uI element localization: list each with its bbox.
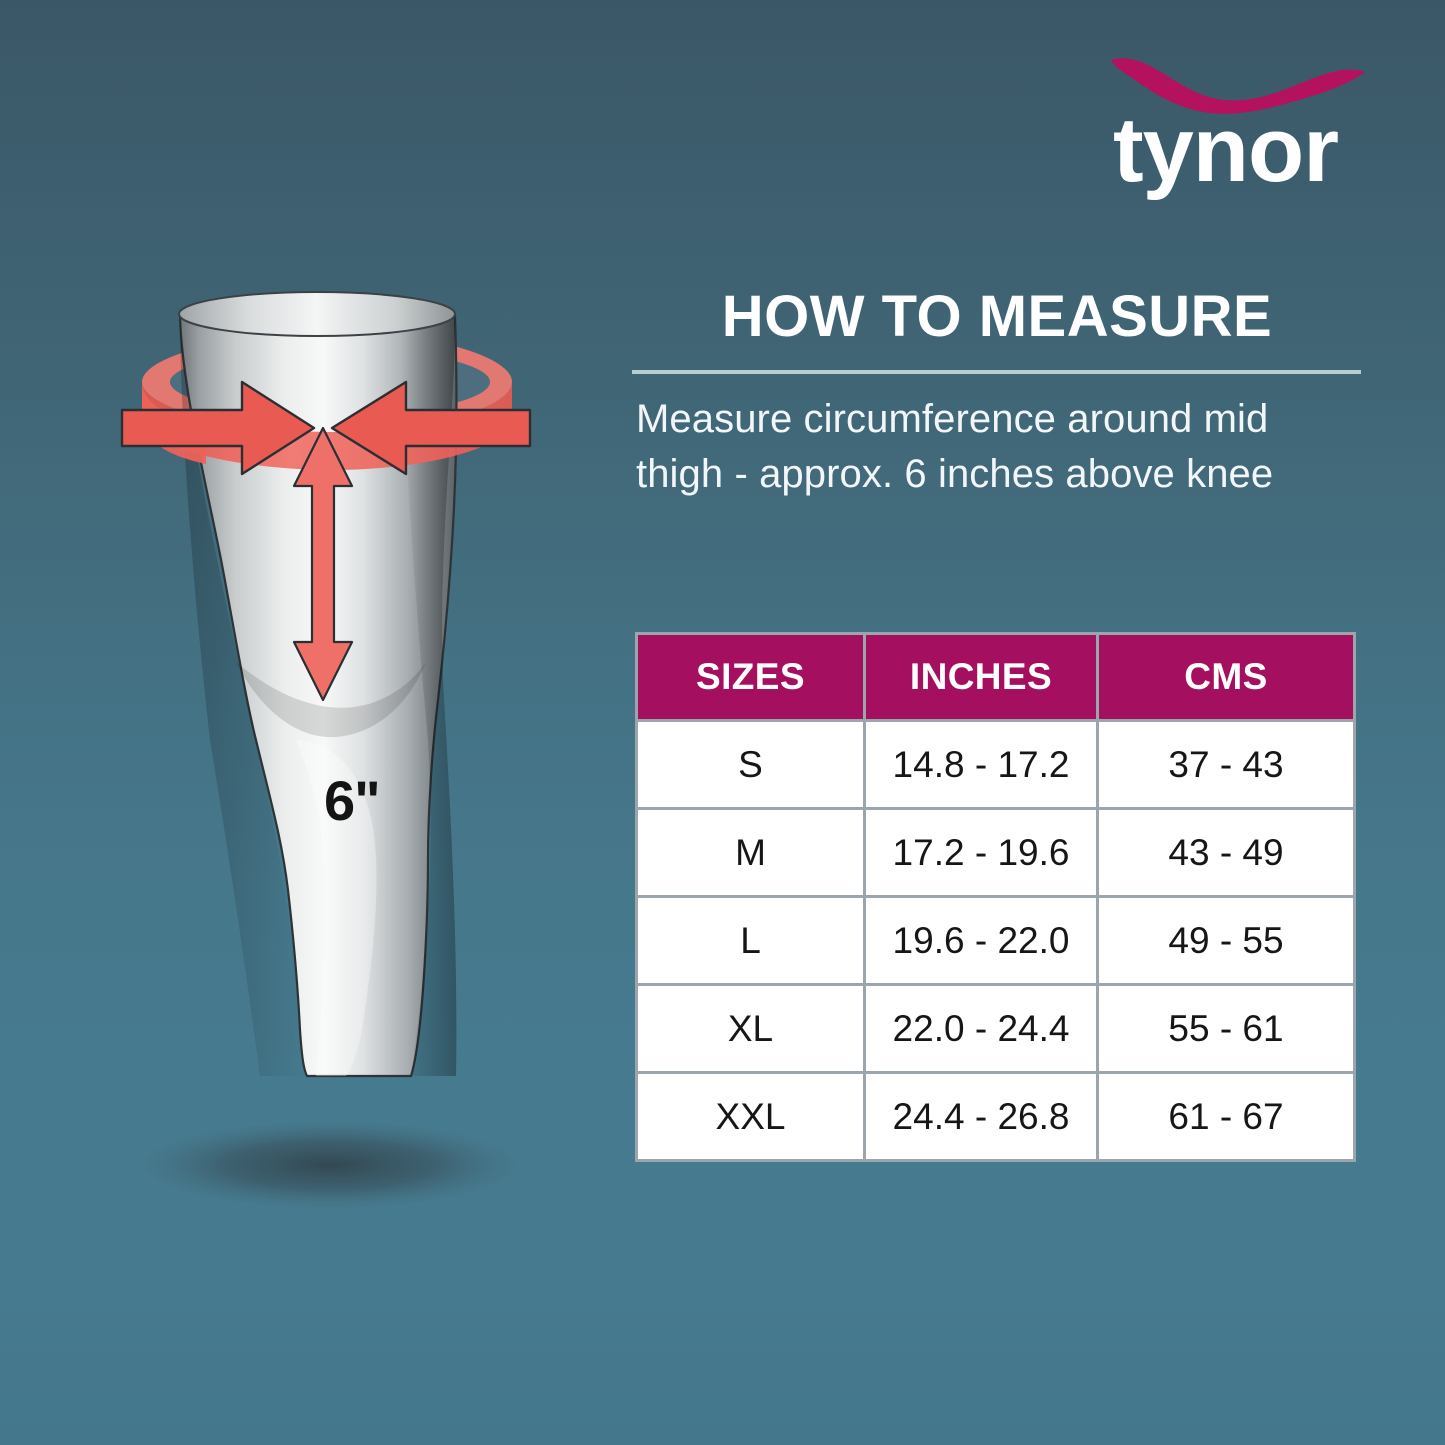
- size-chart-table: SIZES INCHES CMS S 14.8 - 17.2 37 - 43 M…: [635, 632, 1356, 1162]
- cell-cms: 55 - 61: [1098, 985, 1355, 1073]
- cell-inches: 14.8 - 17.2: [865, 721, 1098, 809]
- measure-instruction: Measure circumference around mid thigh -…: [636, 392, 1362, 502]
- cell-size: XL: [637, 985, 865, 1073]
- table-row: M 17.2 - 19.6 43 - 49: [637, 809, 1355, 897]
- thigh-top-cap: [179, 292, 455, 336]
- leg-illustration: 6": [60, 270, 620, 1230]
- cell-inches: 24.4 - 26.8: [865, 1073, 1098, 1161]
- column-header-inches: INCHES: [865, 634, 1098, 721]
- leg-diagram-svg: [60, 270, 620, 1230]
- ground-shadow: [140, 1121, 520, 1209]
- cell-inches: 19.6 - 22.0: [865, 897, 1098, 985]
- cell-cms: 43 - 49: [1098, 809, 1355, 897]
- cell-size: M: [637, 809, 865, 897]
- table-row: L 19.6 - 22.0 49 - 55: [637, 897, 1355, 985]
- column-header-cms: CMS: [1098, 634, 1355, 721]
- brand-wordmark: tynor: [1113, 104, 1373, 196]
- size-chart-page: tynor HOW TO MEASURE Measure circumferen…: [0, 0, 1445, 1445]
- cell-cms: 49 - 55: [1098, 897, 1355, 985]
- cell-inches: 17.2 - 19.6: [865, 809, 1098, 897]
- cell-size: L: [637, 897, 865, 985]
- cell-size: S: [637, 721, 865, 809]
- table-header-row: SIZES INCHES CMS: [637, 634, 1355, 721]
- title-divider: [632, 370, 1361, 374]
- cell-inches: 22.0 - 24.4: [865, 985, 1098, 1073]
- cell-cms: 61 - 67: [1098, 1073, 1355, 1161]
- cell-size: XXL: [637, 1073, 865, 1161]
- brand-logo: tynor: [1105, 52, 1370, 202]
- table-row: XL 22.0 - 24.4 55 - 61: [637, 985, 1355, 1073]
- column-header-sizes: SIZES: [637, 634, 865, 721]
- cell-cms: 37 - 43: [1098, 721, 1355, 809]
- table-row: XXL 24.4 - 26.8 61 - 67: [637, 1073, 1355, 1161]
- six-inch-label: 6": [324, 773, 380, 829]
- table-row: S 14.8 - 17.2 37 - 43: [637, 721, 1355, 809]
- page-title: HOW TO MEASURE: [632, 287, 1362, 348]
